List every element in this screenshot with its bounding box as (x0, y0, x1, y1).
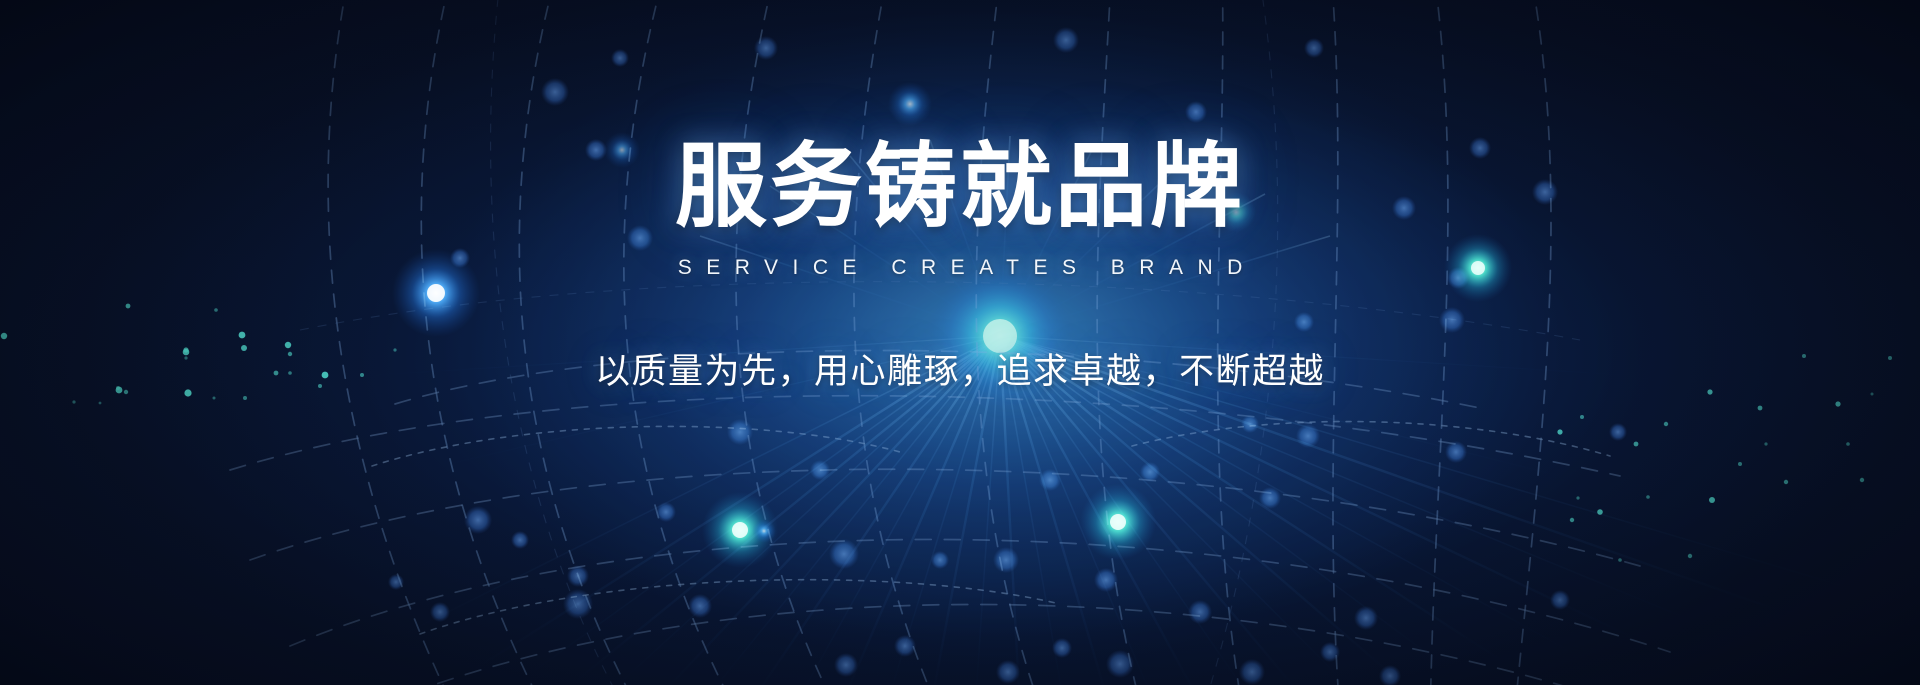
banner-content: 服务铸就品牌 SERVICE CREATES BRAND 以质量为先，用心雕琢，… (0, 139, 1920, 394)
banner-subline: SERVICE CREATES BRAND (0, 256, 1920, 280)
hero-banner: 服务铸就品牌 SERVICE CREATES BRAND 以质量为先，用心雕琢，… (0, 0, 1920, 685)
banner-headline: 服务铸就品牌 (0, 139, 1920, 237)
banner-tagline: 以质量为先，用心雕琢，追求卓越，不断超越 (0, 343, 1920, 394)
